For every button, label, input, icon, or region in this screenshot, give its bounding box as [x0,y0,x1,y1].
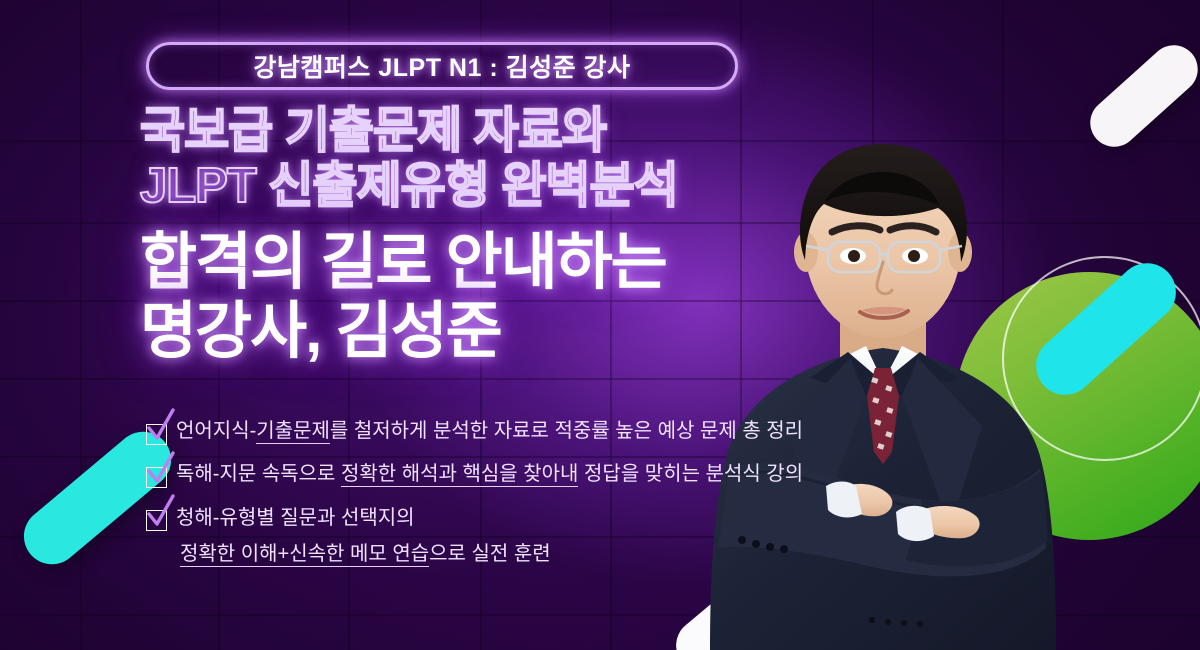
badge-label: 강남캠퍼스 JLPT N1 : 김성준 강사 [253,48,630,84]
checkmark-icon [142,461,176,491]
bullet-3-suffix: 으로 실전 훈련 [429,543,551,565]
checkmark-icon [142,504,176,534]
headline-solid-line1: 합격의 길로 안내하는 [140,228,860,297]
bullet-1-underlined: 기출문제 [256,420,330,444]
feature-list: 언어지식-기출문제를 철저하게 분석한 자료로 적중률 높은 예상 문제 총 정… [142,416,902,571]
bullet-3-line2: 정확한 이해+신속한 메모 연습으로 실전 훈련 [176,538,551,570]
list-item-text: 청해-유형별 질문과 선택지의정확한 이해+신속한 메모 연습으로 실전 훈련 [176,502,551,571]
bullet-1-prefix: 언어지식- [176,420,256,442]
list-item: 언어지식-기출문제를 철저하게 분석한 자료로 적중률 높은 예상 문제 총 정… [142,416,902,448]
headline-outline-line2: JLPT 신출제유형 완벽분석 [140,159,840,214]
headline-outline: 국보급 기출문제 자료와 JLPT 신출제유형 완벽분석 [140,104,840,214]
bullet-2-prefix: 독해-지문 속독으로 [176,463,341,485]
list-item: 청해-유형별 질문과 선택지의정확한 이해+신속한 메모 연습으로 실전 훈련 [142,502,902,571]
headline-solid-line2: 명강사, 김성준 [140,297,860,366]
list-item-text: 언어지식-기출문제를 철저하게 분석한 자료로 적중률 높은 예상 문제 총 정… [176,416,803,447]
list-item: 독해-지문 속독으로 정확한 해석과 핵심을 찾아내 정답을 맞히는 분석식 강… [142,459,902,491]
list-item-text: 독해-지문 속독으로 정확한 해석과 핵심을 찾아내 정답을 맞히는 분석식 강… [176,459,803,490]
headline-solid: 합격의 길로 안내하는 명강사, 김성준 [140,228,860,367]
headline-outline-line1: 국보급 기출문제 자료와 [140,104,840,159]
bullet-3-line1: 청해-유형별 질문과 선택지의 [176,507,415,529]
checkmark-icon [142,418,176,448]
bullet-1-suffix: 를 철저하게 분석한 자료로 적중률 높은 예상 문제 총 정리 [330,420,803,442]
bullet-3-underlined: 정확한 이해+신속한 메모 연습 [180,543,429,567]
bullet-2-underlined: 정확한 해석과 핵심을 찾아내 [341,463,578,487]
promo-banner: 강남캠퍼스 JLPT N1 : 김성준 강사 국보급 기출문제 자료와 JLPT… [0,0,1200,650]
course-badge: 강남캠퍼스 JLPT N1 : 김성준 강사 [146,42,738,90]
bullet-2-suffix: 정답을 맞히는 분석식 강의 [578,463,803,485]
